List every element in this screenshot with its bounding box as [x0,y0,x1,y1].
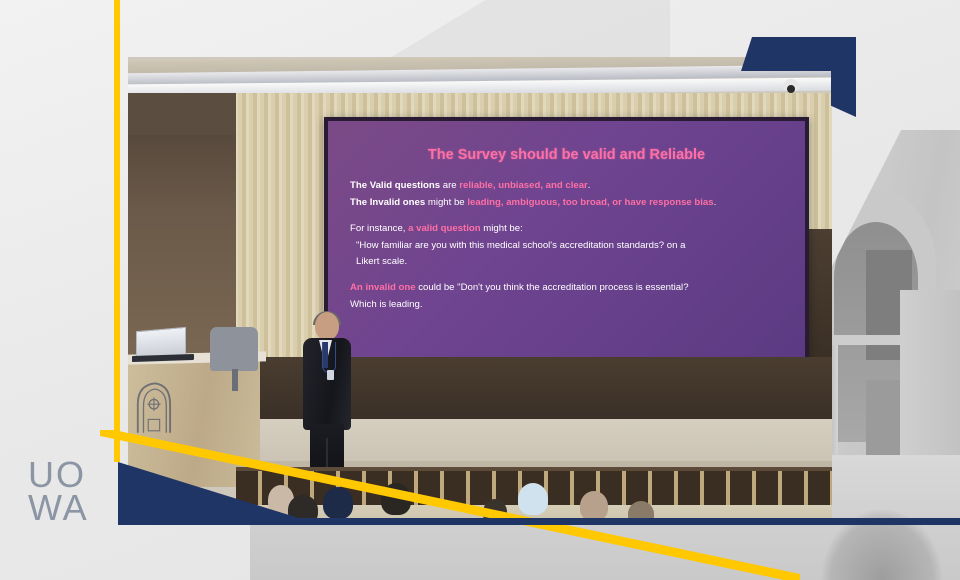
slide-line: The Valid questions are reliable, unbias… [350,179,787,194]
navy-corner-bracket [741,37,856,117]
chair [210,327,258,371]
slide-line-spacer [350,213,787,222]
slide-text-segment: could be "Don't you think the accreditat… [416,282,689,293]
slide-title: The Survey should be valid and Reliable [328,147,805,163]
slide-line-spacer [350,272,787,281]
slide-line: "How familiar are you with this medical … [350,239,787,254]
navy-horizontal-rule-left [118,518,288,525]
slide-text-segment: An invalid one [350,282,416,293]
chair-leg [232,369,238,391]
slide-text-segment: might be [425,197,467,208]
slide-text-segment: Likert scale. [356,256,407,267]
university-emblem-icon [134,379,172,437]
uowa-logo: UO WA [28,458,89,524]
navy-horizontal-rule [285,518,960,525]
presenter-head [315,312,339,340]
slide-body: The Valid questions are reliable, unbias… [350,179,787,315]
slide-text-segment: reliable, unbiased, and clear [459,180,588,191]
slide-text-segment: "How familiar are you with this medical … [356,240,685,251]
projection-screen: The Survey should be valid and Reliable … [324,117,809,384]
slide-text-segment: Which is leading. [350,299,423,310]
poster-canvas: The Survey should be valid and Reliable … [0,0,960,580]
slide-text-segment: . [588,180,591,191]
audience-head [518,483,548,515]
slide-text-segment: leading, ambiguous, too broad, or have r… [467,197,713,208]
slide-text-segment: might be: [481,223,523,234]
lecture-photo: The Survey should be valid and Reliable … [128,57,832,522]
yellow-vertical-accent [114,0,120,462]
slide-surface: The Survey should be valid and Reliable … [328,121,805,380]
slide-text-segment: a valid question [408,223,481,234]
slide-line: An invalid one could be "Don't you think… [350,281,787,296]
slide-text-segment: The Invalid ones [350,197,425,208]
slide-line: Likert scale. [350,255,787,270]
slide-text-segment: are [440,180,459,191]
audience-head [580,491,608,521]
logo-line-2: WA [28,491,89,524]
slide-text-segment: For instance, [350,223,408,234]
presenter-badge [327,370,334,380]
slide-line: The Invalid ones might be leading, ambig… [350,196,787,211]
presenter-lanyard [322,342,336,373]
audience-head [323,487,353,519]
slide-line: For instance, a valid question might be: [350,222,787,237]
slide-text-segment: . [714,197,717,208]
slide-line: Which is leading. [350,298,787,313]
slide-text-segment: The Valid questions [350,180,440,191]
